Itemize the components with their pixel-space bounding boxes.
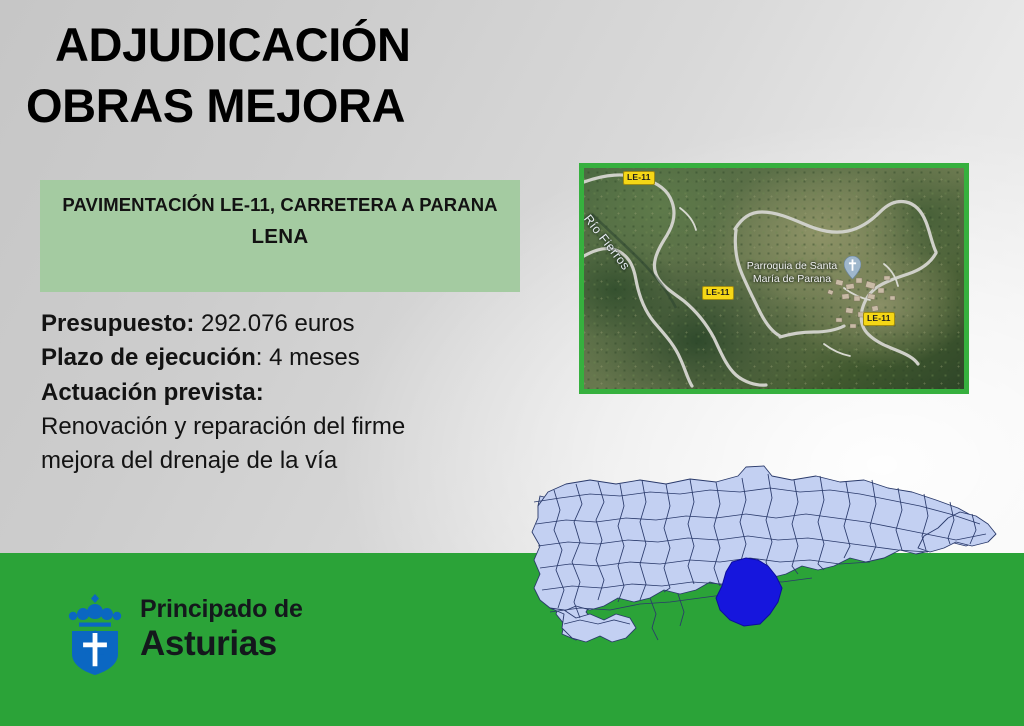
logo-line-2: Asturias (140, 626, 303, 661)
poi-label: Parroquia de Santa María de Parana (744, 260, 840, 286)
road-badge-le11-middle[interactable]: LE-11 (702, 286, 734, 300)
page-title: ADJUDICACIÓN OBRAS MEJORA (26, 14, 546, 136)
detail-scope-line-2: mejora del drenaje de la vía (41, 444, 541, 478)
project-banner: PAVIMENTACIÓN LE-11, CARRETERA A PARANA … (40, 180, 520, 292)
detail-scope-line-1: Renovación y reparación del firme (41, 410, 541, 444)
page-title-line-2: OBRAS MEJORA (26, 75, 546, 136)
road-badge-le11-right[interactable]: LE-11 (863, 312, 895, 326)
detail-scope-label: Actuación prevista: (41, 379, 264, 406)
asturias-municipalities-map (520, 462, 1000, 647)
detail-scope: Actuación prevista: (41, 376, 541, 410)
logo-line-1: Principado de (140, 597, 303, 622)
infographic-poster: ADJUDICACIÓN OBRAS MEJORA PAVIMENTACIÓN … (0, 0, 1024, 726)
asturias-shield-crown-icon (66, 592, 124, 676)
detail-budget: Presupuesto: 292.076 euros (41, 307, 541, 341)
detail-budget-value: 292.076 euros (201, 310, 354, 337)
project-title: PAVIMENTACIÓN LE-11, CARRETERA A PARANA (58, 193, 502, 218)
poi-label-line-1: Parroquia de Santa (747, 260, 837, 272)
page-title-line-1: ADJUDICACIÓN (26, 14, 546, 75)
road-badge-le11-top[interactable]: LE-11 (623, 171, 655, 185)
asturias-logo: Principado de Asturias (66, 592, 311, 676)
detail-term-label: Plazo de ejecución (41, 344, 256, 371)
detail-term: Plazo de ejecución: 4 meses (41, 341, 541, 375)
detail-term-value: : 4 meses (256, 344, 360, 371)
satellite-imagery: Río Fierros Parroquia de Santa María de … (584, 168, 964, 389)
detail-budget-label: Presupuesto: (41, 310, 194, 337)
satellite-map: Río Fierros Parroquia de Santa María de … (579, 163, 969, 394)
project-details: Presupuesto: 292.076 euros Plazo de ejec… (41, 307, 541, 479)
poi-label-line-2: María de Parana (753, 273, 831, 285)
project-municipality: LENA (58, 225, 502, 249)
logo-wordmark: Principado de Asturias (140, 597, 303, 661)
church-marker-icon[interactable] (844, 256, 861, 279)
